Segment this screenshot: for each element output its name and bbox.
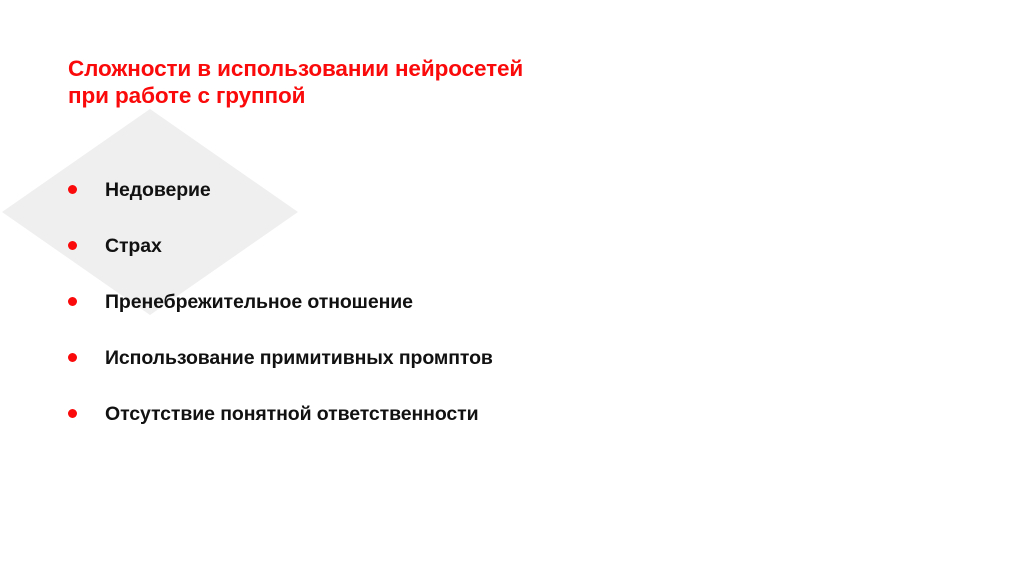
slide-title: Сложности в использовании нейросетей при…	[68, 55, 523, 109]
list-item-label: Пренебрежительное отношение	[105, 290, 413, 315]
list-item-label: Страх	[105, 234, 162, 259]
list-item: Пренебрежительное отношение	[68, 290, 493, 315]
list-item-label: Отсутствие понятной ответственности	[105, 402, 478, 427]
bullet-list: Недоверие Страх Пренебрежительное отноше…	[68, 178, 493, 427]
bullet-dot-icon	[68, 297, 77, 306]
bullet-dot-icon	[68, 241, 77, 250]
list-item: Страх	[68, 234, 493, 259]
list-item-label: Использование примитивных промптов	[105, 346, 493, 371]
presentation-slide: Сложности в использовании нейросетей при…	[0, 0, 1024, 576]
list-item: Отсутствие понятной ответственности	[68, 402, 493, 427]
list-item: Использование примитивных промптов	[68, 346, 493, 371]
list-item: Недоверие	[68, 178, 493, 203]
bullet-dot-icon	[68, 409, 77, 418]
bullet-dot-icon	[68, 185, 77, 194]
list-item-label: Недоверие	[105, 178, 211, 203]
bullet-dot-icon	[68, 353, 77, 362]
